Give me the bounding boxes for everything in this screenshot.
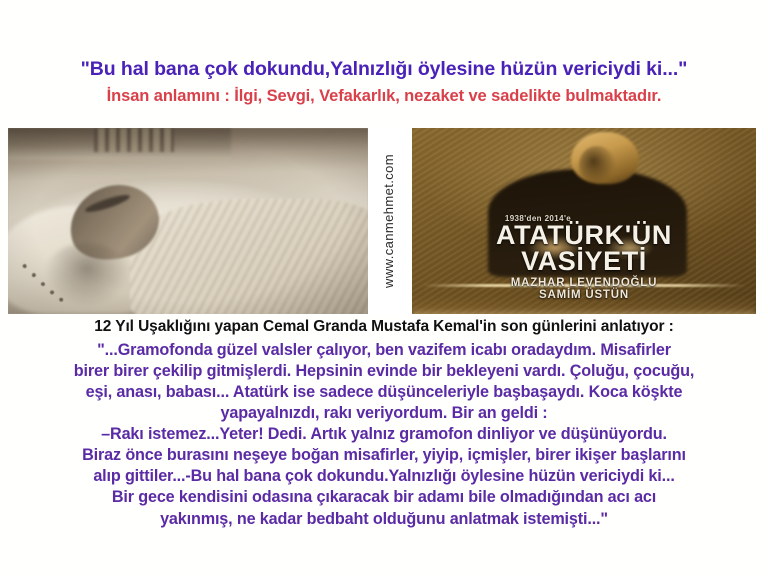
headline-block: "Bu hal bana çok dokundu,Yalnızlığı öyle… — [0, 58, 768, 106]
body-line: Biraz önce burasını neşeye boğan misafir… — [22, 445, 746, 466]
body-line: yapayalnızdı, rakı veriyordum. Bir an ge… — [22, 403, 746, 424]
watermark-text: www.canmehmet.com — [381, 154, 396, 288]
body-line: birer birer çekilip gitmişlerdi. Hepsini… — [22, 361, 746, 382]
media-strip: www.canmehmet.com 1938'den 2014'e ATATÜR… — [0, 127, 768, 315]
body-line: "...Gramofonda güzel valsler çalıyor, be… — [22, 340, 746, 361]
cover-title-line1: ATATÜRK'ÜN — [412, 222, 756, 248]
poster-page: "Bu hal bana çok dokundu,Yalnızlığı öyle… — [0, 0, 768, 576]
body-line: –Rakı istemez...Yeter! Dedi. Artık yalnı… — [22, 424, 746, 445]
body-line: Bir gece kendisini odasına çıkaracak bir… — [22, 487, 746, 508]
body-paragraph: "...Gramofonda güzel valsler çalıyor, be… — [22, 340, 746, 530]
cover-title-line2: VASİYETİ — [412, 248, 756, 275]
cover-author-2: SAMİM ÜSTÜN — [412, 289, 756, 301]
body-copy: "...Gramofonda güzel valsler çalıyor, be… — [22, 340, 746, 530]
body-line: yakınmış, ne kadar bedbaht olduğunu anla… — [22, 509, 746, 530]
cover-text-block: 1938'den 2014'e ATATÜRK'ÜN VASİYETİ MAZH… — [412, 214, 756, 301]
page-subtitle: İnsan anlamını : İlgi, Sevgi, Vefakarlık… — [0, 87, 768, 106]
body-line: eşi, anası, babası... Atatürk ise sadece… — [22, 382, 746, 403]
photo-caption: 12 Yıl Uşaklığını yapan Cemal Granda Mus… — [0, 318, 768, 336]
watermark: www.canmehmet.com — [370, 128, 406, 314]
cover-author-1: MAZHAR LEVENDOĞLU — [412, 277, 756, 289]
page-title: "Bu hal bana çok dokundu,Yalnızlığı öyle… — [0, 58, 768, 81]
ataturk-bed-photo — [8, 128, 368, 314]
photo-vignette — [8, 128, 368, 314]
body-line: alıp gittiler...-Bu hal bana çok dokundu… — [22, 466, 746, 487]
book-cover-image: 1938'den 2014'e ATATÜRK'ÜN VASİYETİ MAZH… — [412, 128, 756, 314]
